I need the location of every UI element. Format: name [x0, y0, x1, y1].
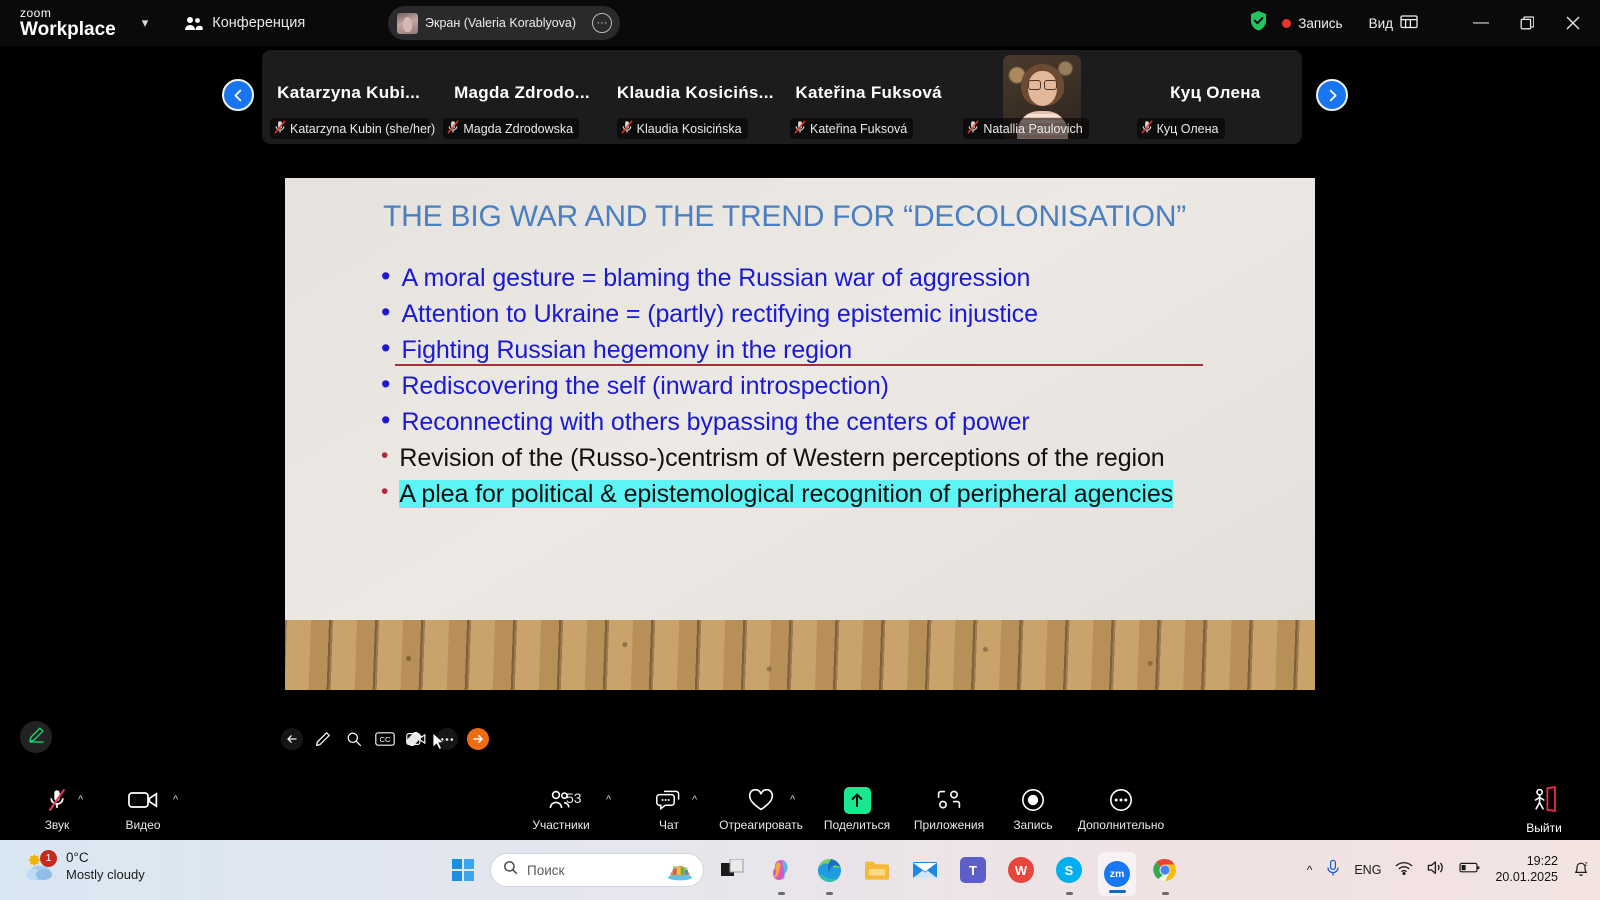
closed-captions-icon[interactable]: CC [374, 728, 396, 750]
bullet-text: A plea for political & epistemological r… [399, 480, 1173, 508]
back-arrow-icon[interactable] [281, 728, 303, 750]
participant-badge-name: Katarzyna Kubin (she/her) [290, 122, 435, 136]
participant-tile-with-video[interactable]: Natallia Paulovich [955, 50, 1128, 144]
participant-name-badge: Kateřina Fuksová [790, 118, 913, 139]
taskbar-clock[interactable]: 19:22 20.01.2025 [1495, 854, 1558, 885]
teams-icon: T [960, 857, 986, 883]
participant-name-badge: Katarzyna Kubin (she/her) [270, 118, 429, 139]
bullet-dot-icon: • [381, 300, 390, 326]
bullet-text: Revision of the (Russo-)centrism of West… [399, 444, 1164, 472]
taskbar-app-chrome[interactable] [1146, 840, 1184, 900]
taskbar-app-file-explorer[interactable] [858, 840, 896, 900]
apps-icon [936, 786, 962, 814]
microphone-muted-icon [45, 786, 69, 814]
chat-button[interactable]: Чат [626, 786, 712, 832]
participant-filmstrip[interactable]: Katarzyna Kubi... Katarzyna Kubin (she/h… [262, 50, 1302, 144]
zoom-letters: zm [1110, 868, 1125, 880]
taskbar-search-input[interactable]: Поиск [490, 853, 704, 887]
annotation-strikethrough-line [395, 364, 1203, 366]
slide-wood-photo [285, 620, 1315, 690]
filmstrip-next-button[interactable] [1316, 79, 1348, 111]
wifi-icon[interactable] [1395, 861, 1413, 880]
slide-bullet: • Fighting Russian hegemony in the regio… [381, 336, 1275, 364]
bullet-dot-icon: • [381, 264, 390, 290]
slide-bullet-list: • A moral gesture = blaming the Russian … [381, 264, 1275, 516]
svg-text:z: z [1584, 861, 1587, 868]
more-ellipsis-icon [1109, 786, 1133, 814]
bullet-dot-icon: • [381, 408, 390, 434]
participant-badge-name: Куц Олена [1157, 122, 1219, 136]
bullet-dot-icon: • [381, 444, 388, 468]
video-icon[interactable] [405, 728, 427, 750]
participant-badge-name: Magda Zdrodowska [463, 122, 573, 136]
share-tab-more-icon[interactable]: ··· [592, 13, 612, 33]
participant-tile[interactable]: Magda Zdrodo... Magda Zdrodowska [435, 50, 608, 144]
mic-muted-icon [274, 120, 286, 137]
slide-bullet: • A moral gesture = blaming the Russian … [381, 264, 1275, 292]
meeting-tab[interactable]: Конференция [184, 15, 305, 31]
taskbar-app-wps-office[interactable]: W [1002, 840, 1040, 900]
bullet-text: Fighting Russian hegemony in the region [401, 336, 852, 364]
zoom-magnifier-icon[interactable] [343, 728, 365, 750]
audio-button[interactable]: Звук [14, 786, 100, 832]
teams-letter: T [969, 863, 977, 878]
react-label: Отреагировать [719, 818, 803, 832]
bullet-text: Reconnecting with others bypassing the c… [401, 408, 1029, 436]
windows-taskbar: 1 0°C Mostly cloudy [0, 840, 1600, 900]
meeting-control-bar: Звук ^ Видео ^ Участники 53 ^ [0, 780, 1600, 840]
participant-name-badge: Natallia Paulovich [963, 118, 1088, 139]
heart-icon [748, 786, 774, 814]
share-tab[interactable]: Экран (Valeria Korablyova) ··· [388, 6, 620, 40]
microphone-icon[interactable] [1326, 859, 1340, 882]
participant-badge-name: Klaudia Kosicińska [637, 122, 742, 136]
participant-display-name: Klaudia Kosicińs... [609, 83, 782, 103]
wps-letter: W [1015, 863, 1027, 878]
restore-button[interactable] [1504, 0, 1550, 46]
weather-temperature: 0°C [66, 850, 145, 867]
participant-tile[interactable]: Kateřina Fuksová Kateřina Fuksová [782, 50, 955, 144]
taskbar-app-skype[interactable]: S [1050, 840, 1088, 900]
copilot-icon [768, 857, 794, 883]
clock-date: 20.01.2025 [1495, 870, 1558, 886]
chevron-down-icon[interactable]: ▾ [142, 15, 149, 31]
presentation-slide: THE BIG WAR AND THE TREND FOR “DECOLONIS… [285, 178, 1315, 690]
screen-share-toolbar[interactable]: CC [281, 726, 489, 752]
participants-label: Участники [532, 818, 589, 832]
chat-bubble-icon [656, 786, 682, 814]
share-tab-label: Экран (Valeria Korablyova) [425, 16, 576, 30]
apps-label: Приложения [914, 818, 984, 832]
video-caret-icon[interactable]: ^ [173, 794, 178, 806]
apps-button[interactable]: Приложения [906, 786, 992, 832]
battery-icon[interactable] [1459, 861, 1481, 879]
mic-muted-icon [447, 120, 459, 137]
taskbar-app-zoom[interactable]: zm [1098, 852, 1136, 896]
video-button[interactable]: Видео [100, 786, 186, 832]
participants-button[interactable]: Участники [518, 786, 604, 832]
record-icon [1021, 786, 1045, 814]
record-button[interactable]: Запись [990, 786, 1076, 832]
taskbar-app-copilot[interactable] [762, 840, 800, 900]
close-button[interactable] [1550, 0, 1596, 46]
bullet-text: Attention to Ukraine = (partly) rectifyi… [401, 300, 1037, 328]
meeting-label: Конференция [212, 15, 305, 31]
bullet-dot-icon: • [381, 480, 388, 504]
mail-icon [912, 857, 938, 883]
taskbar-app-edge[interactable] [810, 840, 848, 900]
mouse-cursor [432, 732, 445, 756]
slide-bullet: • Attention to Ukraine = (partly) rectif… [381, 300, 1275, 328]
edge-icon [816, 857, 842, 883]
leave-meeting-button[interactable]: Выйти [1506, 786, 1582, 835]
slide-bullet: • Revision of the (Russo-)centrism of We… [381, 444, 1275, 472]
participant-tile[interactable]: Куц Олена Куц Олена [1129, 50, 1302, 144]
title-bar: zoom Workplace ▾ Конференция Экран (Vale… [0, 0, 1600, 46]
shared-screen-stage: THE BIG WAR AND THE TREND FOR “DECOLONIS… [0, 146, 1600, 780]
bullet-dot-icon: • [381, 372, 390, 398]
leave-label: Выйти [1526, 821, 1562, 835]
chevron-up-icon[interactable]: ^ [1307, 863, 1313, 877]
filmstrip-prev-button[interactable] [222, 79, 254, 111]
participant-tile[interactable]: Klaudia Kosicińs... Klaudia Kosicińska [609, 50, 782, 144]
bullet-text: A moral gesture = blaming the Russian wa… [401, 264, 1030, 292]
taskbar-app-mail[interactable] [906, 840, 944, 900]
annotate-pencil-icon[interactable] [312, 728, 334, 750]
video-label: Видео [125, 818, 160, 832]
clock-time: 19:22 [1495, 854, 1558, 870]
annotation-fab-button[interactable] [20, 721, 52, 753]
taskbar-system-tray: ^ ENG [1307, 840, 1590, 900]
search-placeholder: Поиск [527, 863, 656, 878]
participant-badge-name: Natallia Paulovich [983, 122, 1082, 136]
window-right-controls: Запись Вид — [1249, 0, 1600, 46]
zoom-logo: zoom Workplace [20, 7, 116, 39]
view-label: Вид [1369, 16, 1393, 31]
taskbar-app-task-view[interactable] [714, 840, 752, 900]
camera-icon [128, 786, 158, 814]
participants-count: 53 [566, 790, 582, 806]
react-button[interactable]: Отреагировать [718, 786, 804, 832]
participant-display-name: Katarzyna Kubi... [262, 83, 435, 103]
participants-caret-icon[interactable]: ^ [606, 794, 611, 806]
more-button[interactable]: Дополнительно [1078, 786, 1164, 832]
shield-check-icon[interactable] [1249, 10, 1268, 36]
chat-label: Чат [659, 818, 679, 832]
volume-icon[interactable] [1427, 860, 1445, 880]
recording-indicator[interactable]: Запись [1282, 16, 1342, 31]
participant-display-name: Kateřina Fuksová [782, 83, 955, 103]
brand-line-2: Workplace [20, 20, 116, 39]
more-label: Дополнительно [1078, 818, 1164, 832]
search-icon [503, 860, 518, 880]
participant-name-badge: Klaudia Kosicińska [617, 118, 748, 139]
mic-muted-icon [967, 120, 979, 137]
skype-icon: S [1056, 857, 1082, 883]
recording-label: Запись [1298, 16, 1342, 31]
weather-description: Mostly cloudy [66, 867, 145, 883]
bullet-dot-icon: • [381, 336, 390, 362]
view-button[interactable]: Вид [1369, 14, 1418, 32]
record-label: Запись [1013, 818, 1052, 832]
sun-cloud-icon: 1 [22, 852, 56, 882]
people-icon [184, 16, 203, 31]
skype-letter: S [1065, 863, 1074, 878]
taskbar-center-group: Поиск [446, 840, 1184, 900]
share-screen-button[interactable]: Поделиться [814, 786, 900, 832]
participant-tile[interactable]: Katarzyna Kubi... Katarzyna Kubin (she/h… [262, 50, 435, 144]
audio-caret-icon[interactable]: ^ [78, 794, 83, 806]
slide-bullet: • Rediscovering the self (inward introsp… [381, 372, 1275, 400]
grid-layout-icon [1400, 14, 1418, 32]
participant-name-badge: Magda Zdrodowska [443, 118, 579, 139]
mic-muted-icon [794, 120, 806, 137]
next-arrow-icon[interactable] [467, 728, 489, 750]
audio-label: Звук [45, 818, 70, 832]
share-thumbnail [397, 13, 418, 34]
slide-bullet-highlighted: • A plea for political & epistemological… [381, 480, 1275, 508]
chrome-icon [1152, 857, 1178, 883]
slide-bullet: • Reconnecting with others bypassing the… [381, 408, 1275, 436]
file-explorer-icon [864, 857, 890, 883]
taskbar-app-teams[interactable]: T [954, 840, 992, 900]
participant-name-badge: Куц Олена [1137, 118, 1225, 139]
task-view-icon [720, 857, 746, 883]
bullet-text: Rediscovering the self (inward introspec… [401, 372, 888, 400]
bell-dnd-icon[interactable]: z [1572, 859, 1590, 882]
edit-pencil-icon [28, 726, 45, 748]
zoom-meeting-window: zoom Workplace ▾ Конференция Экран (Vale… [0, 0, 1600, 900]
participant-badge-name: Kateřina Fuksová [810, 122, 907, 136]
share-screen-icon [844, 786, 871, 814]
language-indicator[interactable]: ENG [1354, 863, 1381, 877]
zoom-icon: zm [1104, 861, 1130, 887]
chat-caret-icon[interactable]: ^ [692, 794, 697, 806]
slide-title: THE BIG WAR AND THE TREND FOR “DECOLONIS… [383, 200, 1275, 234]
react-caret-icon[interactable]: ^ [790, 794, 795, 806]
leave-door-icon [1530, 786, 1558, 817]
notification-count-badge: 1 [40, 850, 57, 867]
minimize-button[interactable]: — [1458, 0, 1504, 46]
participant-display-name: Куц Олена [1129, 83, 1302, 103]
wps-office-icon: W [1008, 857, 1034, 883]
search-illustration-icon [665, 859, 695, 881]
svg-text:CC: CC [380, 735, 391, 744]
participant-display-name: Magda Zdrodo... [435, 83, 608, 103]
mic-muted-icon [621, 120, 633, 137]
brand-line-1: zoom [20, 7, 116, 19]
mic-muted-icon [1141, 120, 1153, 137]
share-label: Поделиться [824, 818, 890, 832]
recording-dot-icon [1282, 19, 1291, 28]
taskbar-weather-widget[interactable]: 1 0°C Mostly cloudy [22, 850, 145, 883]
windows-start-icon[interactable] [446, 853, 480, 887]
